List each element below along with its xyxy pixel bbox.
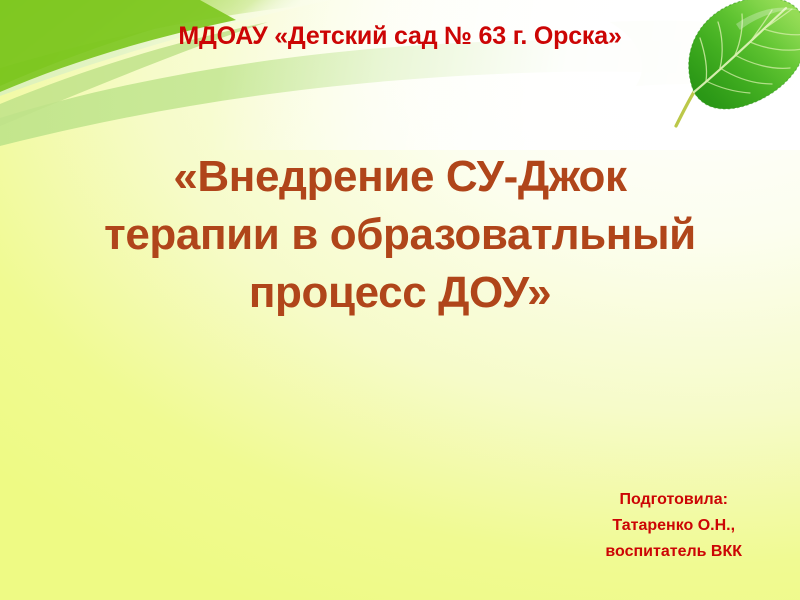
presentation-slide: МДОАУ «Детский сад № 63 г. Орска» «Внедр…: [0, 0, 800, 600]
author-label: Подготовила:: [605, 487, 742, 513]
page-title: «Внедрение СУ-Джок терапии в образоватль…: [60, 148, 740, 322]
title-line-2: терапии в образоватльный: [60, 206, 740, 264]
institution-header: МДОАУ «Детский сад № 63 г. Орска»: [0, 22, 800, 51]
green-leaf-icon: [640, 0, 800, 139]
title-line-1: «Внедрение СУ-Джок: [60, 148, 740, 206]
author-name: Татаренко О.Н.,: [605, 513, 742, 539]
title-line-3: процесс ДОУ»: [60, 264, 740, 322]
author-role: воспитатель ВКК: [605, 539, 742, 565]
author-block: Подготовила: Татаренко О.Н., воспитатель…: [605, 487, 742, 565]
